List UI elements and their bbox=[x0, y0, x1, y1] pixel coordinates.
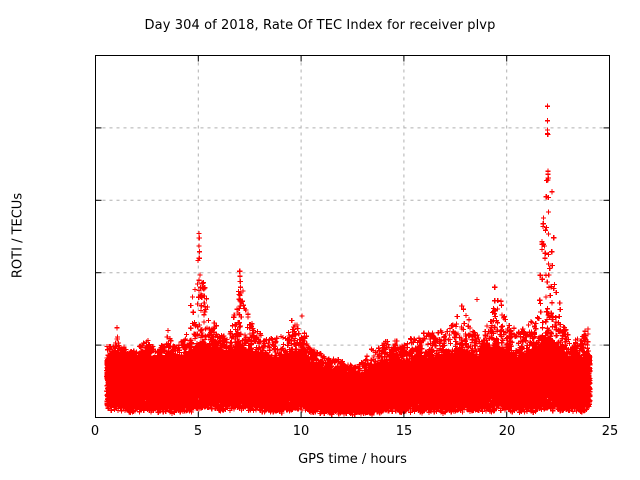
data-points-layer bbox=[104, 104, 592, 418]
chart-canvas: Day 304 of 2018, Rate Of TEC Index for r… bbox=[0, 0, 640, 480]
plot-area bbox=[0, 0, 640, 480]
